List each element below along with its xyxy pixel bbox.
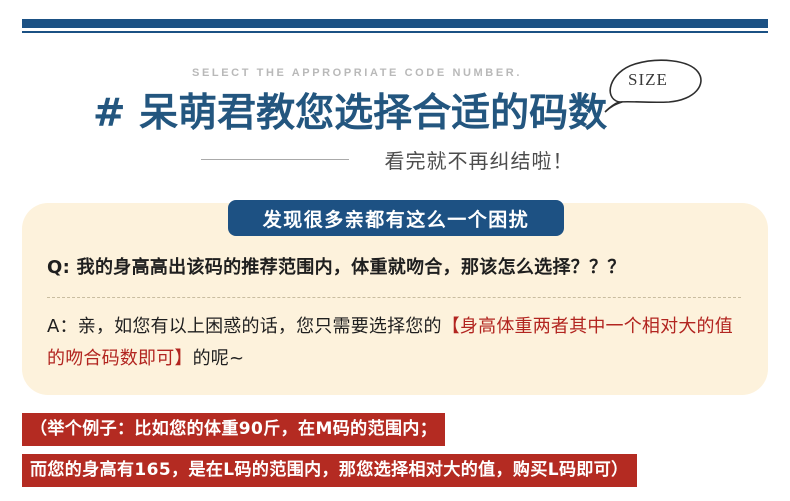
question-text: Q: 我的身高高出该码的推荐范围内，体重就吻合，那该怎么选择？？？	[47, 253, 626, 279]
size-bubble-label: SIZE	[628, 70, 668, 90]
qa-panel: 发现很多亲都有这么一个困扰 Q: 我的身高高出该码的推荐范围内，体重就吻合，那该…	[22, 203, 768, 395]
top-thin-rule	[22, 31, 768, 33]
answer-prefix: A：亲，如您有以上困惑的话，您只需要选择您的	[47, 316, 442, 337]
top-decorative-rules	[22, 19, 768, 33]
header-section: SELECT THE APPROPRIATE CODE NUMBER. # 呆萌…	[0, 50, 790, 185]
answer-suffix: 的呢~	[193, 348, 245, 369]
example-line-1: （举个例子：比如您的体重90斤，在M码的范围内；	[22, 413, 445, 446]
answer-text: A：亲，如您有以上困惑的话，您只需要选择您的【身高体重两者其中一个相对大的值的吻…	[47, 311, 747, 375]
example-line-2: 而您的身高有165，是在L码的范围内，那您选择相对大的值，购买L码即可）	[22, 454, 637, 487]
qa-badge: 发现很多亲都有这么一个困扰	[228, 200, 564, 236]
subtitle-row: 看完就不再纠结啦！	[0, 145, 782, 174]
top-thick-rule	[22, 19, 768, 28]
qa-divider	[47, 297, 741, 298]
subtitle-divider-rule	[201, 159, 349, 160]
example-banners: （举个例子：比如您的体重90斤，在M码的范围内； 而您的身高有165，是在L码的…	[22, 413, 790, 487]
subtitle-text: 看完就不再纠结啦！	[385, 145, 574, 174]
